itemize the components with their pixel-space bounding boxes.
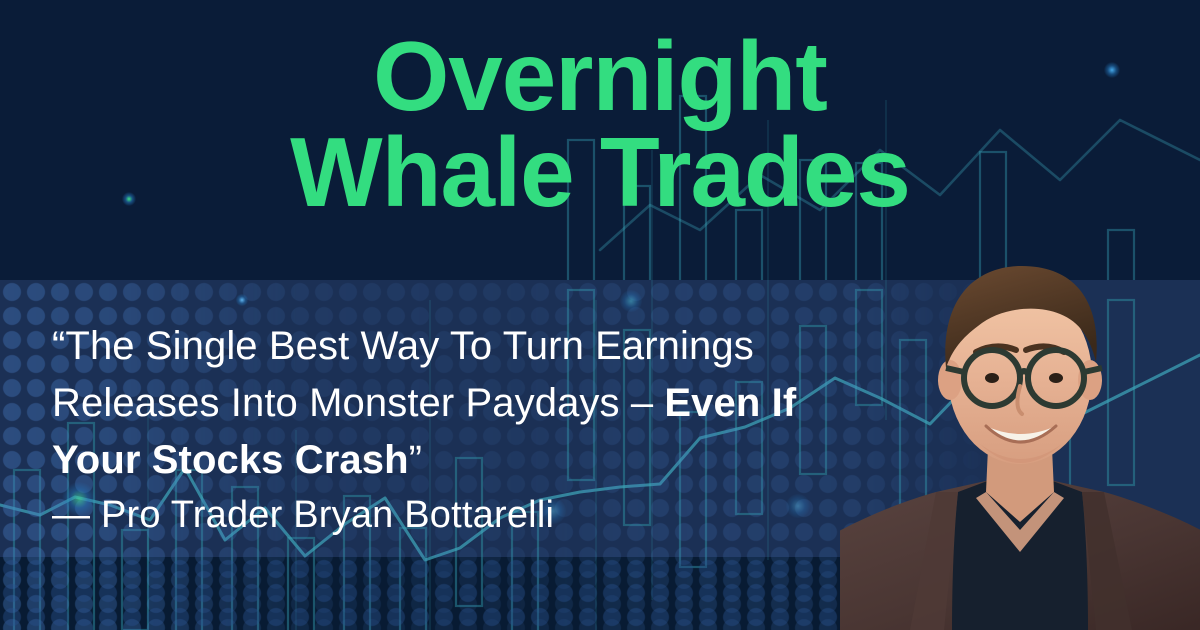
headline-line-2: Whale Trades bbox=[0, 124, 1200, 220]
quote-text: “The Single Best Way To Turn Earnings Re… bbox=[52, 318, 852, 488]
eye-left bbox=[985, 373, 999, 383]
headline: Overnight Whale Trades bbox=[0, 28, 1200, 220]
eye-right bbox=[1049, 373, 1063, 383]
quote-part-2: ” bbox=[409, 438, 422, 482]
attribution-line: — Pro Trader Bryan Bottarelli bbox=[52, 494, 554, 537]
portrait-illustration bbox=[840, 230, 1200, 630]
avatar bbox=[840, 230, 1200, 630]
promo-banner: Overnight Whale Trades “The Single Best … bbox=[0, 0, 1200, 630]
quote-part-1: “The Single Best Way To Turn Earnings Re… bbox=[52, 324, 754, 425]
headline-line-1: Overnight bbox=[0, 28, 1200, 124]
